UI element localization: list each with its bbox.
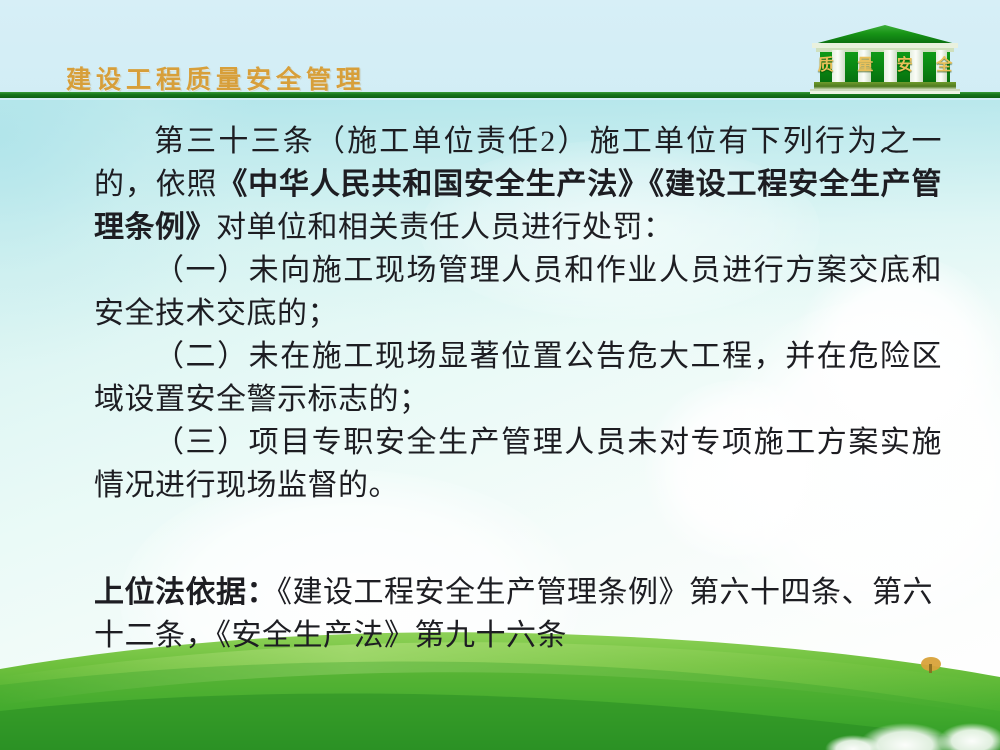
page-title: 建设工程质量安全管理	[66, 60, 366, 96]
paragraph-spacer	[94, 507, 942, 541]
paragraph-item-2: （二）未在施工现场显著位置公告危大工程，并在危险区域设置安全警示标志的；	[94, 335, 942, 421]
run-text: （二）未在施工现场显著位置公告危大工程，并在危险区域设置安全警示标志的；	[94, 340, 942, 416]
quality-safety-temple-logo	[806, 22, 964, 100]
paragraph-article-33: 第三十三条（施工单位责任2）施工单位有下列行为之一的，依照《中华人民共和国安全生…	[94, 120, 942, 249]
legal-basis-label: 上位法依据：	[94, 576, 277, 609]
paragraph-item-1: （一）未向施工现场管理人员和作业人员进行方案交底和安全技术交底的；	[94, 249, 942, 335]
run-text: （三）项目专职安全生产管理人员未对专项施工方案实施情况进行现场监督的。	[94, 426, 942, 502]
run-text: （一）未向施工现场管理人员和作业人员进行方案交底和安全技术交底的；	[94, 254, 942, 330]
slide-canvas: 建设工程质量安全管理	[0, 0, 1000, 750]
paragraph-item-3: （三）项目专职安全生产管理人员未对专项施工方案实施情况进行现场监督的。	[94, 421, 942, 507]
paragraph-legal-basis: 上位法依据：《建设工程安全生产管理条例》第六十四条、第六十二条，《安全生产法》第…	[94, 571, 942, 657]
slide-body-content: 第三十三条（施工单位责任2）施工单位有下列行为之一的，依照《中华人民共和国安全生…	[0, 120, 1000, 687]
run-text: 对单位和相关责任人员进行处罚：	[216, 211, 674, 244]
